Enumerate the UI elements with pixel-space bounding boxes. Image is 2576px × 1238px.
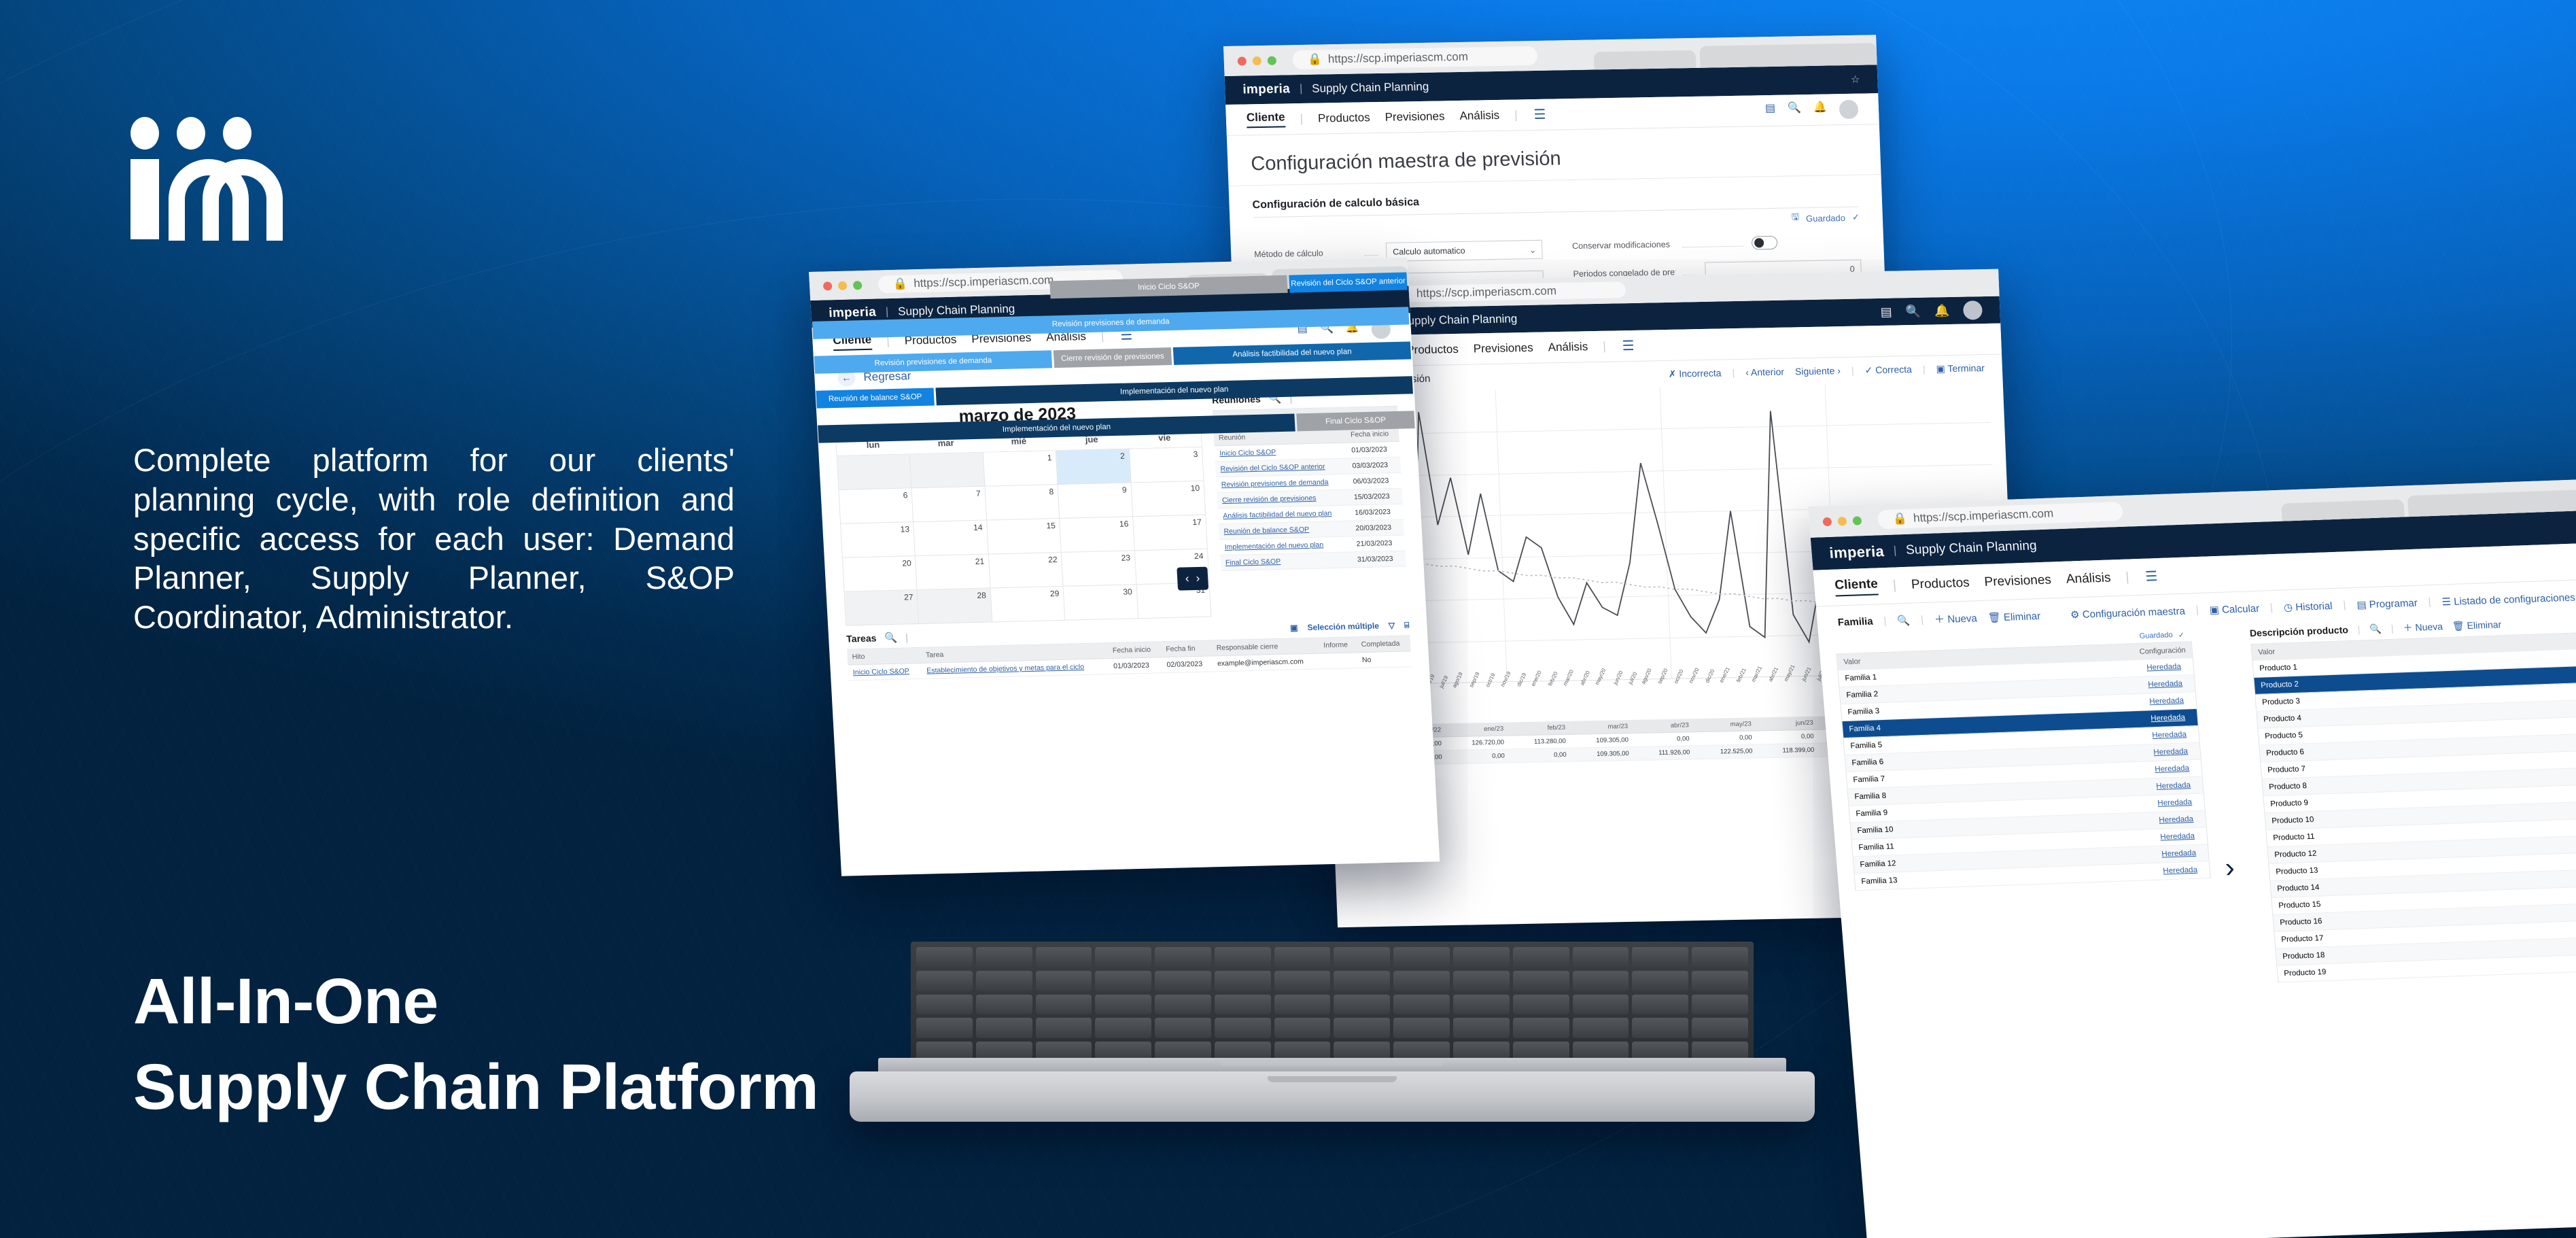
listado-configuraciones-button[interactable]: ☰ Listado de configuraciones de previsió… <box>2441 589 2576 608</box>
imperia-logo <box>129 117 285 205</box>
data-column-header: abr/23 <box>1631 719 1693 733</box>
search-icon[interactable]: 🔍 <box>2369 623 2382 635</box>
nav-item-productos[interactable]: Productos <box>1911 575 1970 592</box>
tasks-column-header: Hito <box>847 648 922 665</box>
calendar-day-number: 14 <box>973 523 983 532</box>
tasks-tab-label: Tareas <box>846 633 877 644</box>
app-subtitle: Supply Chain Planning <box>1905 538 2037 558</box>
siguiente-button[interactable]: Siguiente › <box>1795 365 1841 377</box>
calendar: marzo de 2023 lunmarmiéjuevie 1236789101… <box>833 394 1211 626</box>
nav-divider-2: | <box>1514 108 1518 122</box>
lock-icon: 🔒 <box>1892 512 1908 526</box>
laptop-mockup <box>850 836 1815 1122</box>
tasks-column-header: Fecha inicio <box>1107 642 1162 658</box>
calendar-day-number: 24 <box>1194 551 1204 561</box>
historial-label: Historial <box>2295 600 2333 613</box>
nav-item-productos[interactable]: Productos <box>1406 342 1459 356</box>
laptop-keyboard <box>911 942 1754 1067</box>
calendar-day-cell[interactable]: 2 <box>1056 449 1131 485</box>
task-completed: No <box>1357 651 1411 668</box>
calendar-day-cell[interactable]: 30 <box>1064 585 1138 621</box>
calendar-day-number: 28 <box>977 591 986 600</box>
calendar-grid[interactable]: 123678910131415161720212223242728293031I… <box>837 447 1212 626</box>
data-cell: 0,00 <box>1445 749 1508 764</box>
header-icons[interactable]: ▤ 🔍 🔔 <box>1880 300 1983 322</box>
familia-panel-label: Familia <box>1837 616 1873 629</box>
data-column-header: ene/23 <box>1444 722 1508 736</box>
calendar-day-cell[interactable]: 20 <box>843 556 918 592</box>
familia-config-link[interactable]: Heredada <box>2136 675 2195 693</box>
calendar-day-number: 10 <box>1190 483 1200 493</box>
calendar-day-cell[interactable]: 9 <box>1058 483 1133 519</box>
chevron-right-icon[interactable]: › <box>1196 572 1200 585</box>
meeting-name[interactable]: Final Ciclo S&OP <box>1220 552 1353 571</box>
data-cell: 113.280,00 <box>1508 734 1570 749</box>
toolbar-divider-2: | <box>1851 365 1854 376</box>
nav-divider-2: | <box>1603 339 1606 353</box>
lock-icon: 🔒 <box>893 277 908 290</box>
data-cell: 109.305,00 <box>1569 746 1633 761</box>
familia-config-link[interactable]: Heredada <box>2134 658 2194 676</box>
task-hito[interactable]: Inicio Ciclo S&OP <box>848 663 922 681</box>
url-text: https://scp.imperiascm.com <box>913 273 1054 290</box>
calendar-day-cell[interactable] <box>910 453 985 489</box>
data-cell: 0,00 <box>1631 732 1693 747</box>
data-cell: 109.305,00 <box>1569 733 1632 748</box>
calendar-event[interactable]: Revisión del Ciclo S&OP anterior <box>1289 273 1407 293</box>
field-conservar-modificaciones[interactable]: Conservar modificaciones <box>1572 235 1861 253</box>
familia-col-configuracion: Configuración <box>2133 642 2193 660</box>
calendar-day-cell[interactable]: 14 <box>914 521 989 557</box>
calendar-day-cell[interactable]: 13 <box>841 522 916 558</box>
book-icon[interactable]: ▤ <box>1880 305 1892 319</box>
calendar-day-cell[interactable]: 7 <box>912 487 987 523</box>
laptop-trackpad <box>1220 1058 1444 1066</box>
hamburger-icon[interactable]: ☰ <box>1622 337 1635 354</box>
calendar-event[interactable]: Final Ciclo S&OP <box>1296 411 1414 431</box>
calendar-day-number: 27 <box>904 592 913 602</box>
app-subtitle: Supply Chain Planning <box>1312 80 1429 96</box>
calcular-label: Calcular <box>2221 602 2259 615</box>
producto-nueva-button[interactable]: ＋ Nueva <box>2403 619 2443 634</box>
chevron-down-icon: ⌄ <box>1529 244 1537 254</box>
incorrecta-button[interactable]: ✗ Incorrecta <box>1668 367 1722 379</box>
url-text: https://scp.imperiascm.com <box>1913 506 2054 525</box>
data-column-header: mar/23 <box>1569 720 1632 734</box>
brand-separator: | <box>886 306 889 318</box>
calendar-day-number: 16 <box>1119 519 1129 528</box>
funnel-icon[interactable]: ▽ <box>1389 621 1395 630</box>
calendar-day-cell[interactable]: 21 <box>916 554 990 590</box>
body-copy: Complete platform for our clients' plann… <box>133 441 735 637</box>
familia-producto-lists: Guardado ✓ Valor Configuración Familia 1… <box>1818 609 2576 998</box>
url-text: https://scp.imperiascm.com <box>1328 50 1469 67</box>
toolbar-divider-3: | <box>1923 364 1926 375</box>
calendar-day-cell[interactable]: 8 <box>985 485 1060 521</box>
calendar-day-cell[interactable]: 27 <box>845 590 920 626</box>
familia-config-link[interactable]: Heredada <box>2140 726 2199 744</box>
configuracion-maestra-button[interactable]: ⚙ Configuración maestra <box>2070 604 2185 621</box>
producto-list-panel: Descripción producto | 🔍 | ＋ Nueva 🗑 Eli… <box>2249 614 2576 983</box>
search-icon[interactable]: 🔍 <box>1788 101 1802 120</box>
headline-line-2: Supply Chain Platform <box>133 1044 818 1130</box>
calendar-day-number: 17 <box>1192 517 1202 527</box>
meeting-date: 03/03/2023 <box>1347 457 1401 474</box>
historial-button[interactable]: ◷ Historial <box>2283 600 2333 613</box>
calendar-day-cell[interactable]: 22 <box>989 553 1064 589</box>
familia-saved-label: Guardado <box>2139 631 2173 641</box>
data-cell: 126.720,00 <box>1445 736 1508 751</box>
correcta-button[interactable]: ✓ Correcta <box>1864 364 1912 376</box>
data-cell: 0,00 <box>1755 729 1817 744</box>
meeting-date: 16/03/2023 <box>1350 504 1404 521</box>
familia-config-link[interactable]: Heredada <box>2142 760 2202 778</box>
familia-config-link[interactable]: Heredada <box>2145 793 2205 812</box>
calendar-day-cell[interactable]: 16 <box>1060 517 1134 553</box>
calendar-day-number: 22 <box>1048 555 1058 564</box>
calendar-day-number: 3 <box>1193 449 1198 459</box>
calendar-day-cell[interactable] <box>837 454 912 490</box>
eliminar-label: Eliminar <box>2003 611 2041 623</box>
laptop-notch <box>1268 1076 1397 1082</box>
calendar-day-number: 23 <box>1121 553 1130 562</box>
nav-item-analisis[interactable]: Análisis <box>2066 570 2111 587</box>
toolbar-divider-2: | <box>1920 614 1924 625</box>
page-title: All-In-One Supply Chain Platform <box>133 959 818 1131</box>
review-toolbar[interactable]: ✗ Incorrecta | ‹ Anterior Siguiente › | … <box>1668 362 1985 379</box>
familia-config-link[interactable]: Heredada <box>2144 777 2204 795</box>
task-start: 01/03/2023 <box>1109 657 1163 674</box>
task-end: 02/03/2023 <box>1162 656 1213 673</box>
window-calendario-sop[interactable]: 🔒 https://scp.imperiascm.com imperia | S… <box>809 257 1440 876</box>
toolbar-divider: | <box>1732 367 1735 378</box>
multiselect-label: Selección múltiple <box>1307 621 1379 632</box>
headline-line-1: All-In-One <box>133 959 818 1044</box>
app-subtitle: Supply Chain Planning <box>898 303 1015 319</box>
calendar-day-cell[interactable]: 1 <box>984 451 1058 487</box>
correcta-label: Correcta <box>1875 364 1912 375</box>
data-cell: 118.399,00 <box>1756 743 1818 758</box>
incorrecta-label: Incorrecta <box>1679 367 1722 379</box>
calendar-day-cell[interactable]: 3 <box>1129 447 1204 483</box>
check-icon: ✓ <box>2178 631 2185 640</box>
bookmark-icon[interactable]: ⌸ <box>1404 620 1410 630</box>
producto-grid[interactable]: Valor Producto 1 Producto 2 Producto 3 P… <box>2250 632 2576 983</box>
chevron-left-icon[interactable]: ‹ <box>1185 572 1189 585</box>
nueva-button[interactable]: ＋ Nueva <box>1934 611 1977 626</box>
app-brand: imperia <box>1829 543 1885 562</box>
familia-config-link[interactable]: Heredada <box>2141 743 2201 761</box>
tasks-column-header: Completada <box>1356 636 1410 652</box>
app-brand: imperia <box>829 305 877 322</box>
nav-item-cliente[interactable]: Cliente <box>1247 110 1286 128</box>
familia-grid[interactable]: Valor Configuración Familia 1 Heredada F… <box>1836 641 2210 891</box>
dot-leader <box>1682 240 1743 248</box>
tasks-column-header: Informe <box>1319 637 1357 653</box>
calendar-day-number: 2 <box>1120 451 1125 461</box>
toggle-conservar-modificaciones[interactable] <box>1752 236 1778 250</box>
familia-config-link[interactable]: Heredada <box>2138 709 2198 727</box>
calendar-day-number: 20 <box>902 558 911 568</box>
meeting-date: 20/03/2023 <box>1351 519 1404 536</box>
window-controls[interactable] <box>1238 56 1276 65</box>
nav-item-previsiones[interactable]: Previsiones <box>1984 572 2052 589</box>
nav-item-analisis[interactable]: Análisis <box>1459 108 1499 122</box>
calendar-day-number: 7 <box>976 489 981 498</box>
eliminar-button[interactable]: 🗑 Eliminar <box>1987 610 2041 624</box>
meeting-date: 21/03/2023 <box>1351 535 1405 552</box>
search-icon[interactable]: 🔍 <box>1905 304 1921 318</box>
multiselect-icon[interactable]: ▣ <box>1290 623 1298 632</box>
select-value: Calculo automatico <box>1393 246 1465 257</box>
data-cell: 111.926,00 <box>1632 746 1694 761</box>
bell-icon[interactable]: 🔔 <box>1813 100 1828 119</box>
hamburger-icon[interactable]: ☰ <box>2144 568 2158 585</box>
calendar-day-number: 6 <box>903 490 907 500</box>
window-controls[interactable] <box>823 281 863 290</box>
dot-leader <box>1364 249 1378 256</box>
calendar-day-number: 30 <box>1123 587 1132 596</box>
familia-config-link[interactable]: Heredada <box>2146 810 2206 829</box>
nav-divider: | <box>1300 111 1303 125</box>
nav-divider-2: | <box>2125 570 2130 585</box>
anterior-label: Anterior <box>1751 366 1785 378</box>
calendar-day-cell[interactable]: 6 <box>839 488 913 524</box>
field-label: Método de cálculo <box>1254 248 1357 260</box>
avatar[interactable] <box>1839 99 1858 118</box>
meeting-date: 15/03/2023 <box>1348 488 1402 505</box>
calendar-and-meetings: marzo de 2023 lunmarmiéjuevie 1236789101… <box>816 383 1426 626</box>
toolbar-divider-3: | <box>2195 604 2199 616</box>
app-brand: imperia <box>1242 82 1290 97</box>
address-bar[interactable]: 🔒 https://scp.imperiascm.com <box>1877 502 2123 530</box>
calendar-day-cell[interactable]: 29 <box>990 587 1065 623</box>
familia-config-link[interactable]: Heredada <box>2137 692 2197 710</box>
calendar-day-cell[interactable]: 15 <box>987 519 1062 555</box>
brand-separator: | <box>1893 545 1897 557</box>
programar-button[interactable]: ▤ Programar <box>2356 596 2418 611</box>
calendar-day-cell[interactable]: 17 <box>1133 515 1208 551</box>
address-bar[interactable]: 🔒 https://scp.imperiascm.com <box>1380 281 1626 303</box>
familia-list-panel: Guardado ✓ Valor Configuración Familia 1… <box>1835 628 2219 997</box>
familia-config-link[interactable]: Heredada <box>2151 861 2210 880</box>
nav-item-previsiones[interactable]: Previsiones <box>1473 341 1533 356</box>
data-cell: 0,00 <box>1692 731 1756 746</box>
calendar-day-number: 15 <box>1046 521 1056 530</box>
producto-nueva-label: Nueva <box>2415 621 2443 632</box>
search-icon[interactable]: 🔍 <box>884 632 898 644</box>
toolbar-divider-6: | <box>2428 596 2431 608</box>
programar-label: Programar <box>2369 597 2418 610</box>
producto-eliminar-button[interactable]: 🗑 Eliminar <box>2452 619 2502 632</box>
promo-banner: Complete platform for our clients' plann… <box>0 0 2576 1238</box>
browser-tabstrip[interactable] <box>1593 35 1877 69</box>
nav-item-productos[interactable]: Productos <box>1318 111 1370 125</box>
familia-config-link[interactable]: Heredada <box>2148 827 2208 846</box>
book-icon[interactable]: ▤ <box>1765 101 1776 120</box>
producto-eliminar-label: Eliminar <box>2467 619 2502 631</box>
calendar-day-number: 9 <box>1122 485 1127 495</box>
data-cell: 122.525,00 <box>1693 744 1756 759</box>
nav-item-analisis[interactable]: Análisis <box>1548 340 1588 354</box>
check-icon: ✓ <box>1852 212 1860 223</box>
meeting-date: 01/03/2023 <box>1346 441 1400 458</box>
familia-config-link[interactable]: Heredada <box>2149 844 2209 863</box>
search-icon[interactable]: 🔍 <box>1897 614 1911 627</box>
select-metodo-calculo[interactable]: Calculo automatico ⌄ <box>1386 240 1543 262</box>
star-icon[interactable]: ☆ <box>1851 73 1860 86</box>
data-column-header: feb/23 <box>1507 721 1569 736</box>
calendar-day-number: 21 <box>975 557 984 566</box>
anterior-button[interactable]: ‹ Anterior <box>1745 366 1784 378</box>
brand-separator: | <box>1300 83 1303 95</box>
calendar-day-number: 13 <box>900 524 909 534</box>
hamburger-icon[interactable]: ☰ <box>1533 106 1546 123</box>
data-column-header: may/23 <box>1692 717 1755 732</box>
nueva-label: Nueva <box>1947 613 1978 625</box>
producto-panel-label: Descripción producto <box>2249 624 2348 638</box>
tasks-column-header: Fecha fin <box>1161 640 1213 657</box>
avatar[interactable] <box>1963 300 1983 320</box>
data-column-header: jun/23 <box>1754 717 1817 731</box>
field-label: Conservar modificaciones <box>1572 239 1675 251</box>
window-controls[interactable] <box>1822 516 1862 526</box>
saved-label: Guardado <box>1806 213 1845 224</box>
calendar-day-cell[interactable]: 23 <box>1062 551 1136 587</box>
listado-configuraciones-label: Listado de configuraciones de previsión <box>2454 589 2576 607</box>
app-subtitle: Supply Chain Planning <box>1400 312 1518 328</box>
meetings-table: ReuniónFecha inicio Inicio Ciclo S&OP01/… <box>1213 426 1406 571</box>
meeting-date: 31/03/2023 <box>1352 551 1406 568</box>
lock-icon: 🔒 <box>1307 52 1322 66</box>
data-cell: 0,00 <box>1508 748 1570 763</box>
toolbar-divider: | <box>1883 615 1887 627</box>
calendar-month-nav[interactable]: ‹ › <box>1177 567 1208 591</box>
calendar-day-cell[interactable]: 10 <box>1131 481 1206 517</box>
configuracion-maestra-label: Configuración maestra <box>2082 605 2185 620</box>
calendar-event[interactable]: Reunión de balance S&OP <box>816 388 934 408</box>
terminar-button[interactable]: ▣ Terminar <box>1936 362 1985 374</box>
toolbar-divider-4: | <box>2269 602 2273 613</box>
save-icon[interactable]: 🖫 <box>1792 211 1800 226</box>
terminar-label: Terminar <box>1947 362 1985 373</box>
calcular-button[interactable]: ▣ Calcular <box>2209 602 2260 616</box>
calendar-event[interactable]: Cierre revisión de previsiones <box>1054 347 1172 368</box>
url-text: https://scp.imperiascm.com <box>1416 284 1557 300</box>
toolbar-divider-5: | <box>2343 599 2346 611</box>
task-owner: example@imperiascm.com <box>1212 653 1320 672</box>
meeting-date: 06/03/2023 <box>1348 472 1402 489</box>
siguiente-label: Siguiente <box>1795 365 1835 377</box>
address-bar[interactable]: 🔒 https://scp.imperiascm.com <box>1292 46 1537 69</box>
nav-item-previsiones[interactable]: Previsiones <box>1385 109 1445 124</box>
window-familia-productos[interactable]: 🔒 https://scp.imperiascm.com imperia | S… <box>1808 479 2576 1238</box>
calendar-day-cell[interactable]: 28 <box>918 588 992 624</box>
chevron-right-icon[interactable]: › <box>2224 851 2236 884</box>
calendar-day-number: 1 <box>1047 453 1051 462</box>
bell-icon[interactable]: 🔔 <box>1934 303 1950 317</box>
nav-divider: | <box>1892 578 1897 593</box>
task-report <box>1319 653 1358 669</box>
nav-item-cliente[interactable]: Cliente <box>1834 577 1879 596</box>
calendar-day-number: 8 <box>1049 487 1054 496</box>
calendar-day-number: 29 <box>1050 589 1060 598</box>
